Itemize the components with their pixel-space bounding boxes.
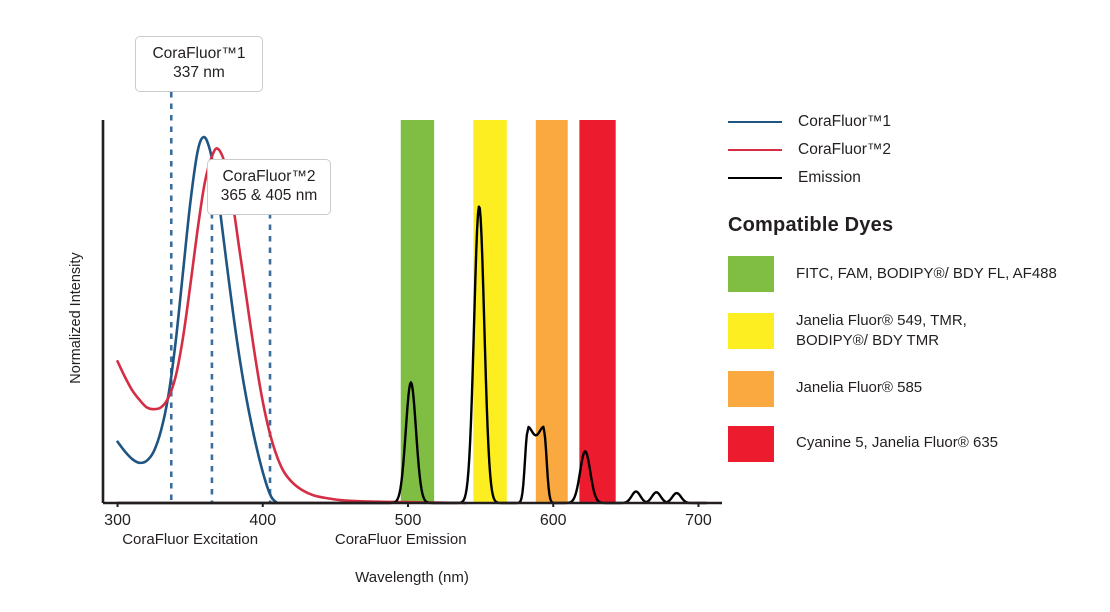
dye-label-red: Cyanine 5, Janelia Fluor® 635 — [796, 433, 998, 453]
legend-item-corafluor2: CoraFluor™2 — [728, 136, 1098, 164]
dye-item-green: FITC, FAM, BODIPY®/ BDY FL, AF488 — [728, 256, 1098, 292]
dye-item-orange: Janelia Fluor® 585 — [728, 371, 1098, 407]
y-axis-title: Normalized Intensity — [68, 252, 84, 384]
legend-line-swatch-corafluor1 — [728, 121, 782, 123]
dye-swatch-red — [728, 426, 774, 462]
x-tick-label-300: 300 — [104, 512, 131, 529]
callout-corafluor2: CoraFluor™2 365 & 405 nm — [207, 159, 331, 215]
dye-swatch-orange — [728, 371, 774, 407]
callout-corafluor2-line1: CoraFluor™2 — [220, 167, 318, 186]
dye-item-red: Cyanine 5, Janelia Fluor® 635 — [728, 426, 1098, 462]
legend-item-emission: Emission — [728, 164, 1098, 192]
legend-label-corafluor1: CoraFluor™1 — [798, 113, 891, 131]
region-label-excitation: CoraFluor Excitation — [122, 531, 258, 548]
x-axis-title: Wavelength (nm) — [355, 569, 469, 586]
x-tick-label-600: 600 — [540, 512, 567, 529]
region-label-emission: CoraFluor Emission — [335, 531, 467, 548]
x-tick-label-400: 400 — [249, 512, 276, 529]
legend-label-emission: Emission — [798, 169, 861, 187]
dye-item-yellow: Janelia Fluor® 549, TMR,BODIPY®/ BDY TMR — [728, 311, 1098, 352]
legend-line-swatch-corafluor2 — [728, 149, 782, 151]
callout-corafluor1: CoraFluor™1 337 nm — [135, 36, 263, 92]
red-band — [579, 120, 615, 503]
dye-swatch-green — [728, 256, 774, 292]
yellow-band — [473, 120, 506, 503]
dye-swatch-yellow — [728, 313, 774, 349]
legend-label-corafluor2: CoraFluor™2 — [798, 141, 891, 159]
legend-line-swatch-emission — [728, 177, 782, 179]
dye-label-orange: Janelia Fluor® 585 — [796, 378, 922, 398]
callout-corafluor1-line2: 337 nm — [148, 63, 250, 82]
callout-corafluor2-line2: 365 & 405 nm — [220, 186, 318, 205]
orange-band — [536, 120, 568, 503]
x-tick-label-500: 500 — [395, 512, 422, 529]
compatible-dyes-title: Compatible Dyes — [728, 214, 1098, 237]
dye-label-yellow: Janelia Fluor® 549, TMR,BODIPY®/ BDY TMR — [796, 311, 967, 352]
legend-item-corafluor1: CoraFluor™1 — [728, 108, 1098, 136]
callout-corafluor1-line1: CoraFluor™1 — [148, 44, 250, 63]
x-tick-label-700: 700 — [685, 512, 712, 529]
dye-label-green: FITC, FAM, BODIPY®/ BDY FL, AF488 — [796, 264, 1057, 284]
fluorescence-spectra-chart: 300400500600700CoraFluor ExcitationCoraF… — [0, 0, 1110, 612]
legend: CoraFluor™1 CoraFluor™2 Emission Compati… — [728, 108, 1098, 462]
